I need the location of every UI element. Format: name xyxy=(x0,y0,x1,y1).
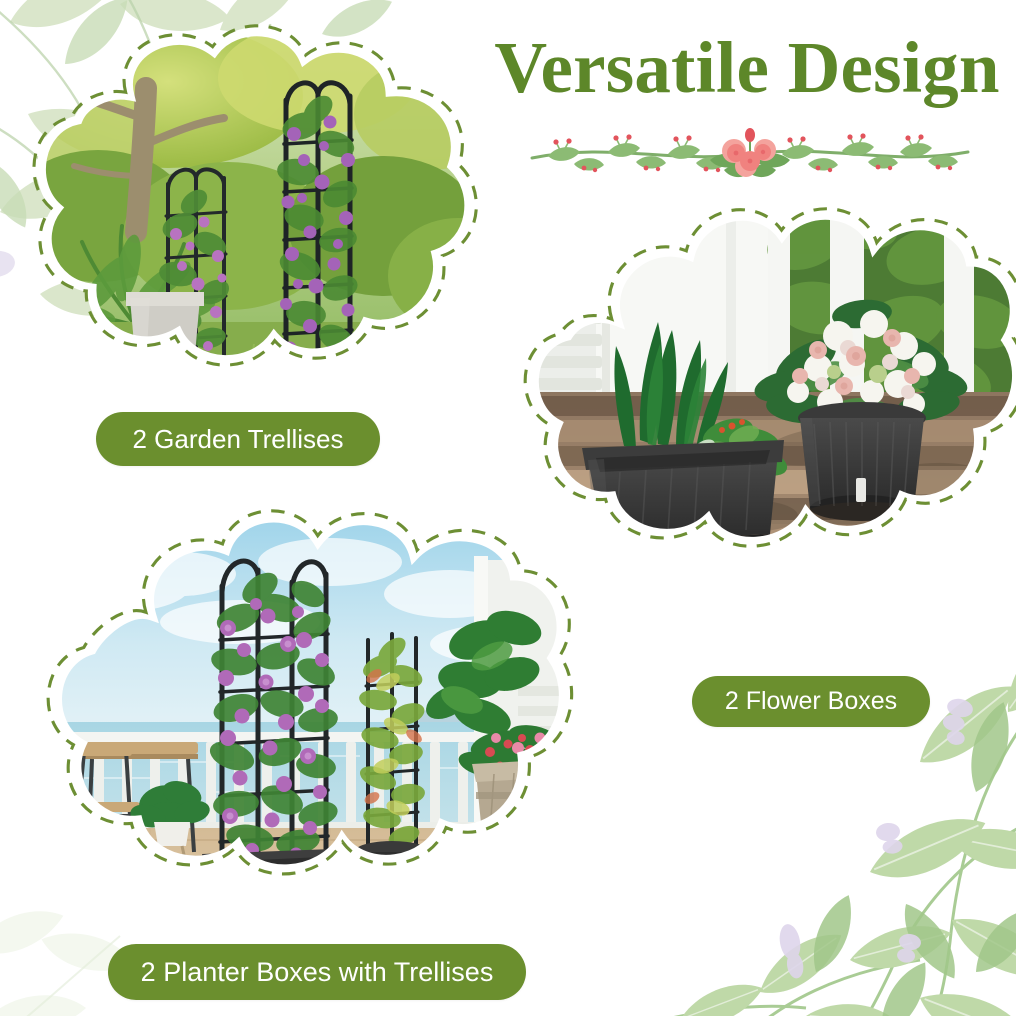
page-title: Versatile Design xyxy=(478,26,1016,110)
label-pill-planter-boxes-with-trellises[interactable]: 2 Planter Boxes with Trellises xyxy=(108,944,526,1000)
product-feature-graphic: Versatile Design xyxy=(0,0,1016,1016)
floral-vine-divider-icon xyxy=(500,124,1000,186)
photo-card-planter-boxes-with-trellises[interactable] xyxy=(30,516,590,946)
photo-card-garden-trellises[interactable] xyxy=(18,26,488,386)
label-pill-garden-trellises[interactable]: 2 Garden Trellises xyxy=(96,412,380,466)
label-pill-flower-boxes[interactable]: 2 Flower Boxes xyxy=(692,676,930,727)
